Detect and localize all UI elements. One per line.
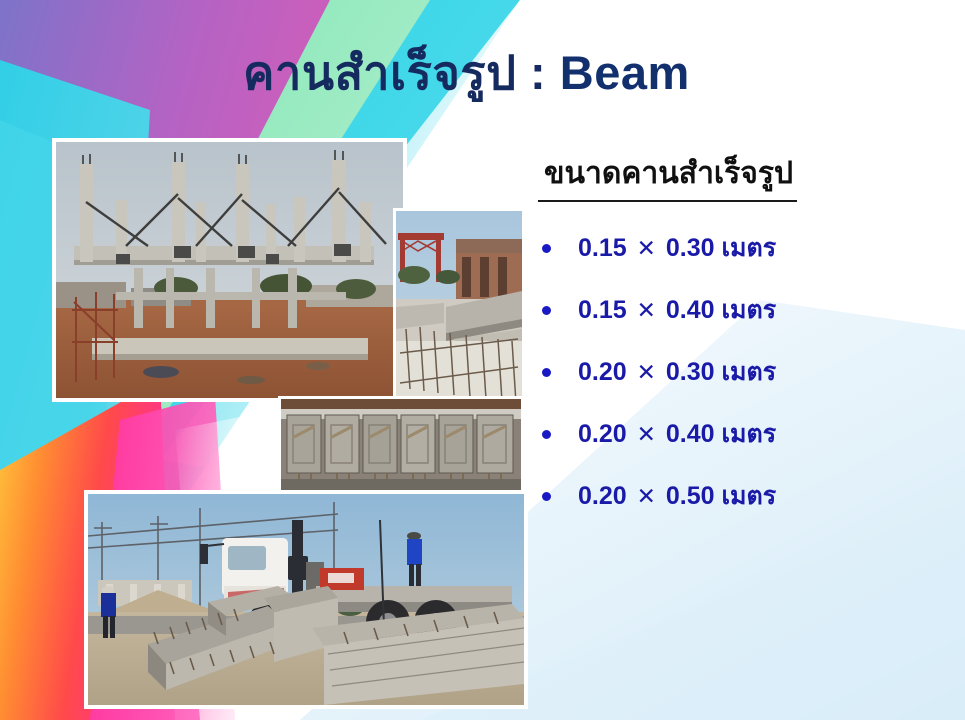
beam-unit: เมตร [721, 482, 776, 510]
beam-unit: เมตร [721, 234, 776, 262]
multiply-icon: ✕ [634, 483, 659, 509]
beam-depth: 0.30 [666, 234, 715, 262]
beam-depth: 0.40 [666, 420, 715, 448]
beam-unit: เมตร [721, 358, 776, 386]
beam-depth: 0.30 [666, 358, 715, 386]
bullet-dot-icon [542, 244, 551, 253]
list-item[interactable]: 0.20 ✕ 0.40 เมตร [520, 410, 960, 472]
beam-depth: 0.40 [666, 296, 715, 324]
multiply-icon: ✕ [634, 359, 659, 385]
beam-unit: เมตร [721, 420, 776, 448]
bullet-dot-icon [542, 430, 551, 439]
multiply-icon: ✕ [634, 421, 659, 447]
beam-width: 0.15 [578, 234, 627, 262]
beam-width: 0.15 [578, 296, 627, 324]
beam-width: 0.20 [578, 358, 627, 386]
title-separator: : [516, 46, 559, 99]
section-heading: ขนาดคานสำเร็จรูป [538, 150, 797, 202]
beam-width: 0.20 [578, 420, 627, 448]
list-item[interactable]: 0.20 ✕ 0.50 เมตร [520, 472, 960, 534]
list-item[interactable]: 0.15 ✕ 0.40 เมตร [520, 286, 960, 348]
slide-canvas: คานสำเร็จรูป : Beam [0, 0, 965, 720]
bullet-dot-icon [542, 368, 551, 377]
list-item[interactable]: 0.20 ✕ 0.30 เมตร [520, 348, 960, 410]
photo-precast-concrete-frame-structure [56, 142, 403, 398]
photo-truck-delivering-precast-beams [88, 494, 524, 705]
beam-unit: เมตร [721, 296, 776, 324]
title-latin: Beam [560, 46, 690, 99]
list-item[interactable]: 0.15 ✕ 0.30 เมตร [520, 224, 960, 286]
photo-precast-beam-end-sections [281, 399, 521, 490]
multiply-icon: ✕ [634, 235, 659, 261]
bullet-dot-icon [542, 306, 551, 315]
multiply-icon: ✕ [634, 297, 659, 323]
title-thai: คานสำเร็จรูป [243, 46, 516, 99]
slide-title: คานสำเร็จรูป : Beam [243, 48, 690, 97]
beam-width: 0.20 [578, 482, 627, 510]
beam-size-list: 0.15 ✕ 0.30 เมตร 0.15 ✕ 0.40 เมตร 0.20 ✕… [520, 224, 960, 534]
bullet-dot-icon [542, 492, 551, 501]
beam-depth: 0.50 [666, 482, 715, 510]
beam-sizes-panel: ขนาดคานสำเร็จรูป 0.15 ✕ 0.30 เมตร 0.15 ✕… [520, 150, 960, 534]
